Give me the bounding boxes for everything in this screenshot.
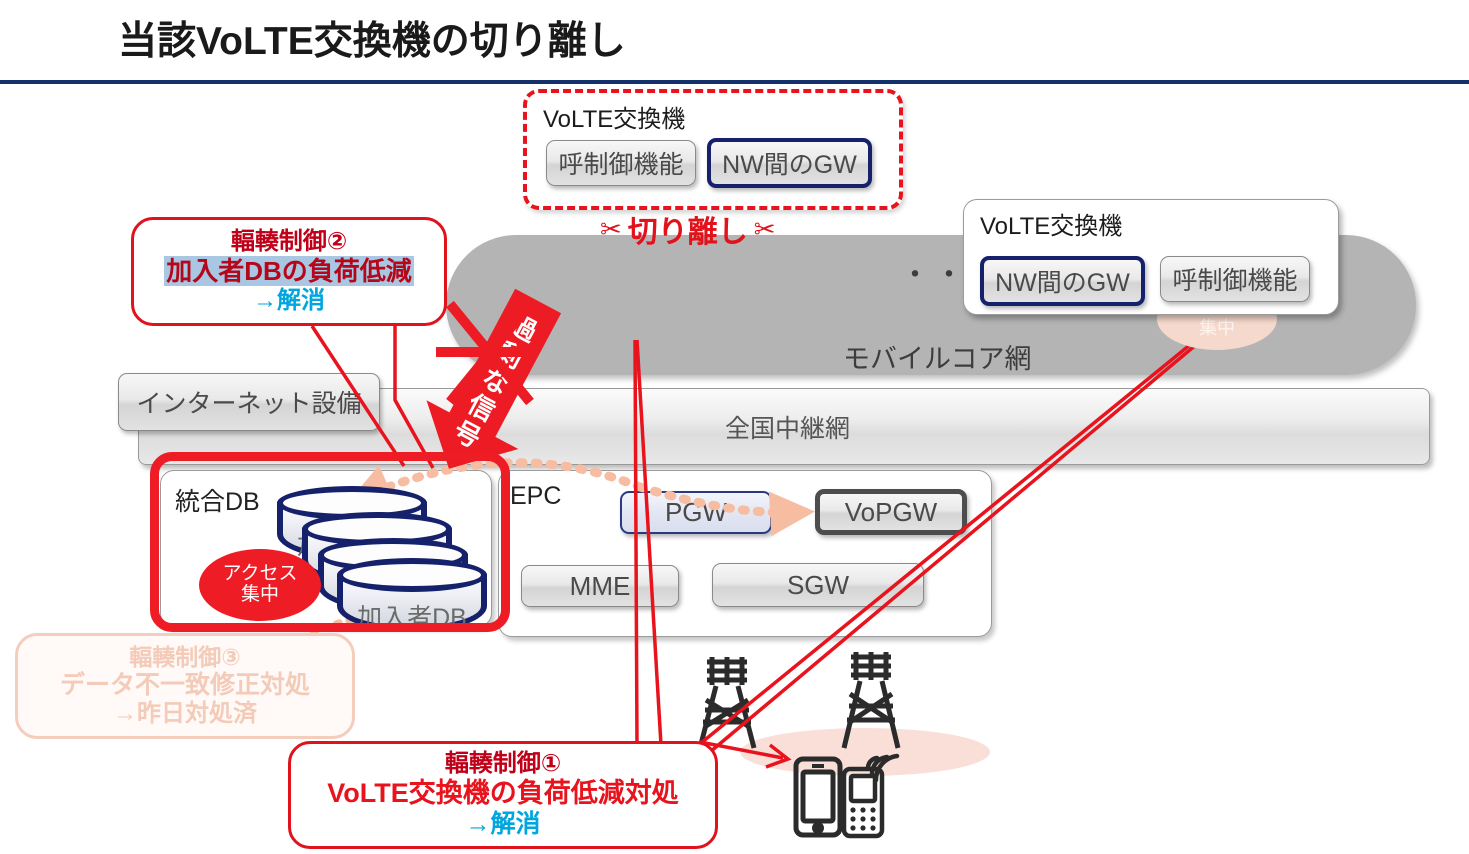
detached-call-control-chip[interactable]: 呼制御機能: [546, 140, 696, 186]
scissors-left-icon: ✂: [600, 214, 622, 245]
active-switch-title: VoLTE交換機: [980, 206, 1122, 241]
active-nw-gateway-chip[interactable]: NW間のGW: [980, 256, 1145, 306]
nw-gateway-label: NW間のGW: [995, 263, 1130, 299]
callout-congestion-control-3: 輻輳制御③ データ不一致修正対処 →昨日対処済: [15, 633, 355, 739]
callout1-line3: →解消: [291, 810, 715, 840]
feature-phone-icon: [844, 769, 882, 836]
callout2-line3: →解消: [134, 287, 444, 315]
badge-line2: 集中: [1199, 319, 1235, 339]
vopgw-label: VoPGW: [845, 497, 937, 528]
callout2-line2: 加入者DBの負荷低減: [134, 256, 444, 287]
sgw-label: SGW: [787, 570, 849, 601]
slide-canvas: 当該VoLTE交換機の切り離し モバイルコア網 ・・・ 全国中継網 インターネッ…: [0, 0, 1469, 854]
cell-tower-icon: [700, 657, 754, 748]
callout2-line2-text: 加入者DBの負荷低減: [164, 256, 414, 286]
coverage-area-ellipse: [740, 728, 990, 776]
active-call-control-chip[interactable]: 呼制御機能: [1160, 256, 1310, 302]
mobile-core-label: モバイルコア網: [843, 337, 1031, 376]
internet-facility-label: インターネット設備: [136, 384, 361, 420]
callout-congestion-control-2: 輻輳制御② 加入者DBの負荷低減 →解消: [131, 217, 447, 326]
mme-label: MME: [570, 571, 631, 602]
detached-switch-title: VoLTE交換機: [543, 99, 685, 134]
callout3-line1: 輻輳制御③: [18, 644, 352, 671]
callout2-line1: 輻輳制御②: [134, 228, 444, 256]
epc-label: EPC: [510, 482, 561, 511]
epc-node-mme[interactable]: MME: [521, 565, 679, 607]
epc-node-pgw[interactable]: PGW: [620, 491, 772, 534]
backbone-label: 全国中継網: [725, 409, 850, 445]
nw-gateway-label: NW間のGW: [722, 145, 857, 181]
epc-node-vopgw[interactable]: VoPGW: [815, 489, 967, 535]
callout1-line1: 輻輳制御①: [291, 750, 715, 778]
callout-congestion-control-1: 輻輳制御① VoLTE交換機の負荷低減対処 →解消: [288, 741, 718, 849]
detached-nw-gateway-chip[interactable]: NW間のGW: [707, 138, 872, 188]
cut-off-label: 切り離し: [628, 207, 748, 251]
internet-facility-chip[interactable]: インターネット設備: [118, 373, 380, 431]
db-highlight-ring: [150, 452, 510, 632]
callout3-line2: データ不一致修正対処: [18, 671, 352, 701]
page-title: 当該VoLTE交換機の切り離し: [118, 10, 626, 66]
call-control-label: 呼制御機能: [1172, 261, 1297, 297]
scissors-right-icon: ✂: [754, 214, 776, 245]
cut-off-annotation: ✂ 切り離し ✂: [600, 207, 776, 251]
callout1-line2: VoLTE交換機の負荷低減対処: [291, 778, 715, 810]
pgw-label: PGW: [665, 497, 727, 528]
callout3-line3: →昨日対処済: [18, 700, 352, 728]
call-control-label: 呼制御機能: [558, 145, 683, 181]
title-divider: [0, 80, 1469, 84]
epc-node-sgw[interactable]: SGW: [712, 563, 924, 607]
